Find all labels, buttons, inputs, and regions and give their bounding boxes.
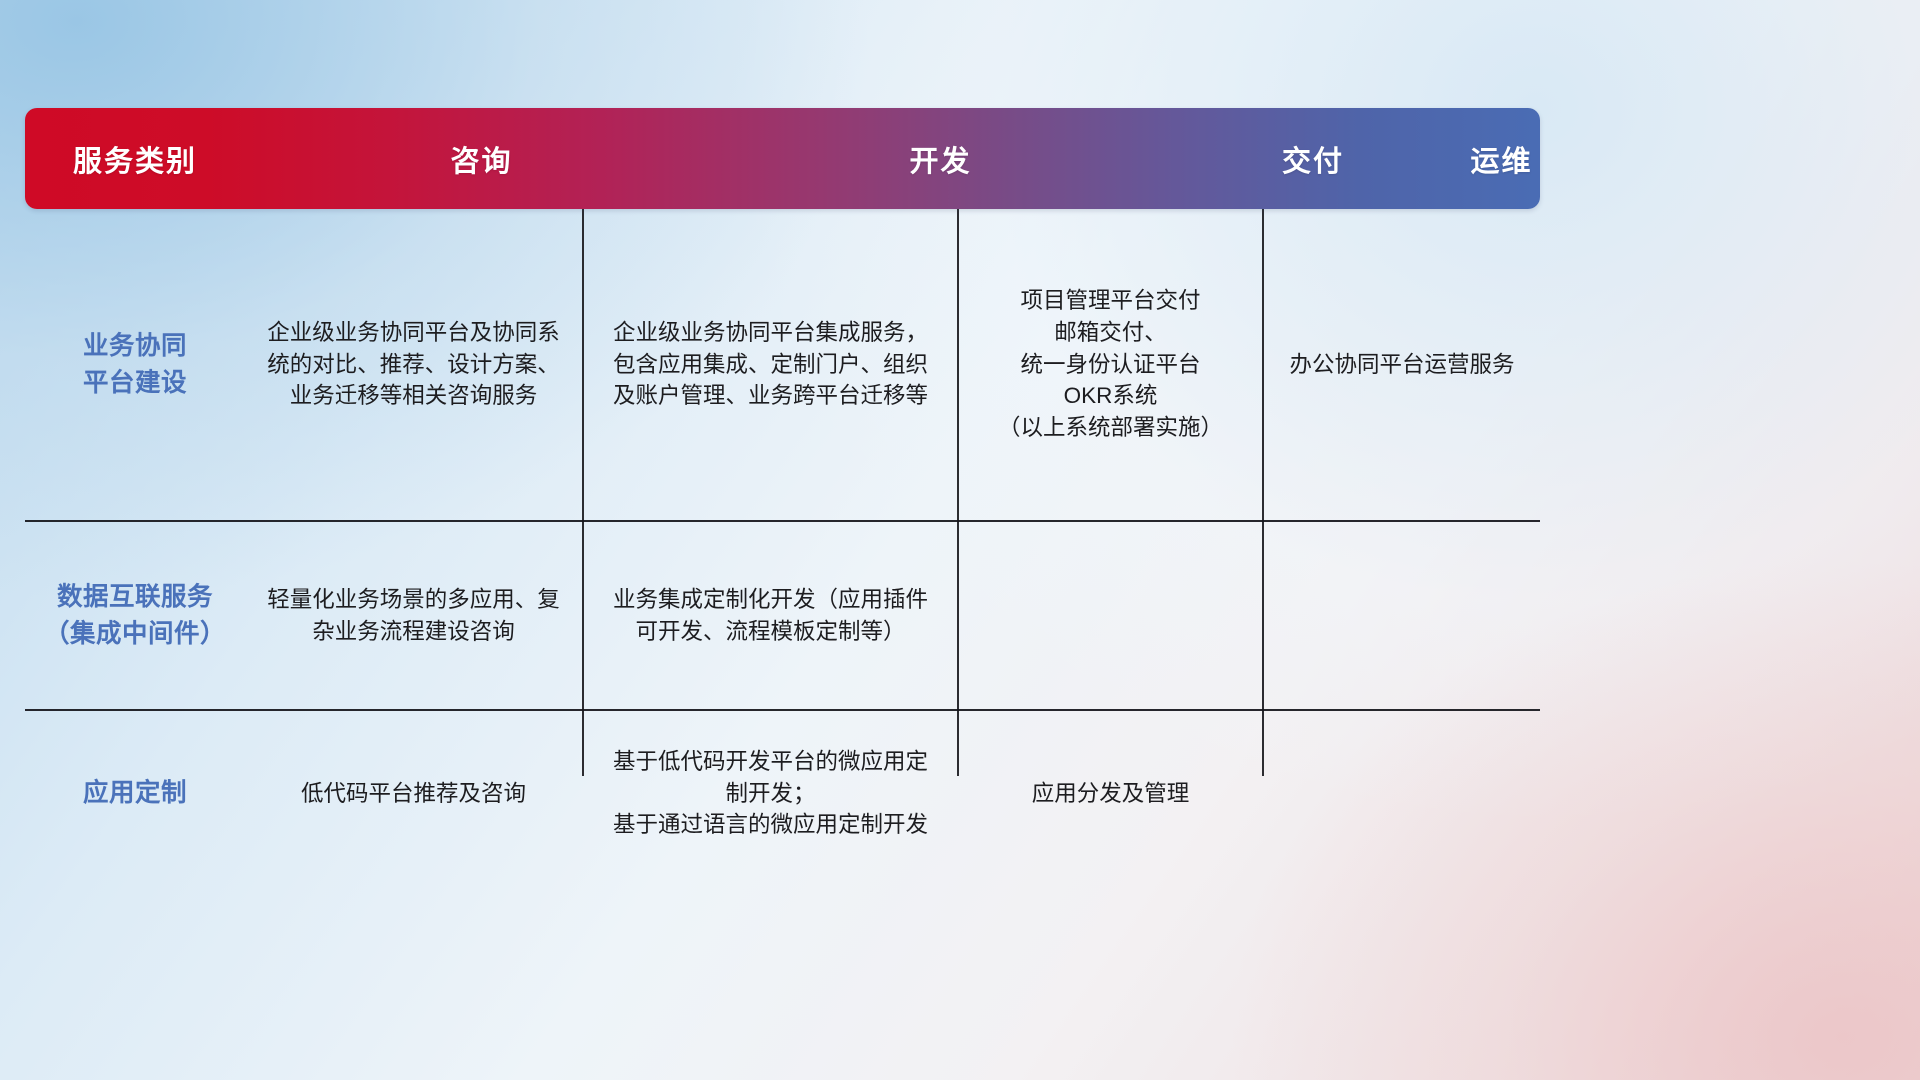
column-header-delivery-label: 交付 xyxy=(1282,138,1344,180)
row-1-development: 企业级业务协同平台集成服务， 包含应用集成、定制门户、组织 及账户管理、业务跨平… xyxy=(584,209,957,520)
table-header-row: 服务类别 咨询 开发 交付 运维 xyxy=(25,108,1540,209)
column-header-category-label: 服务类别 xyxy=(73,138,197,180)
row-1-operations: 办公协同平台运营服务 xyxy=(1264,209,1540,520)
column-header-development-label: 开发 xyxy=(909,138,971,180)
column-header-operations: 运维 xyxy=(1463,108,1540,209)
column-header-category: 服务类别 xyxy=(25,108,245,209)
row-3-operations xyxy=(1264,711,1540,876)
row-3-development: 基于低代码开发平台的微应用定 制开发； 基于通过语言的微应用定制开发 xyxy=(584,711,957,876)
row-1-category: 业务协同 平台建设 xyxy=(25,209,245,520)
column-header-development: 开发 xyxy=(718,108,1163,209)
column-header-delivery: 交付 xyxy=(1163,108,1463,209)
row-1-consulting: 企业级业务协同平台及协同系 统的对比、推荐、设计方案、 业务迁移等相关咨询服务 xyxy=(245,209,582,520)
row-3-delivery: 应用分发及管理 xyxy=(959,711,1262,876)
column-header-operations-label: 运维 xyxy=(1470,138,1532,180)
row-2-development: 业务集成定制化开发（应用插件 可开发、流程模板定制等） xyxy=(584,522,957,709)
row-1-delivery: 项目管理平台交付 邮箱交付、 统一身份认证平台 OKR系统 （以上系统部署实施） xyxy=(959,209,1262,520)
column-header-consulting: 咨询 xyxy=(245,108,718,209)
row-3-consulting: 低代码平台推荐及咨询 xyxy=(245,711,582,876)
row-2-delivery xyxy=(959,522,1262,709)
row-2-operations xyxy=(1264,522,1540,709)
row-2-consulting: 轻量化业务场景的多应用、复 杂业务流程建设咨询 xyxy=(245,522,582,709)
table-body: 业务协同 平台建设 企业级业务协同平台及协同系 统的对比、推荐、设计方案、 业务… xyxy=(25,209,1540,776)
column-header-consulting-label: 咨询 xyxy=(450,138,512,180)
service-matrix-table: 服务类别 咨询 开发 交付 运维 业务协同 平台建设 企业级业务协同平台及协同系… xyxy=(25,108,1540,776)
row-2-category: 数据互联服务 （集成中间件） xyxy=(25,522,245,709)
row-3-category: 应用定制 xyxy=(25,711,245,876)
